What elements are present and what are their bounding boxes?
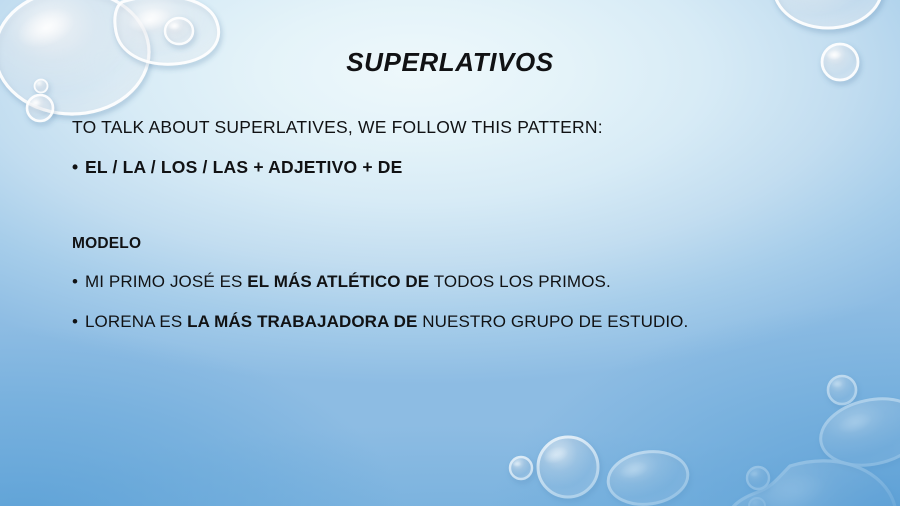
example-1-lead: MI PRIMO JOSÉ ES: [85, 272, 247, 291]
intro-line: TO TALK ABOUT SUPERLATIVES, WE FOLLOW TH…: [72, 117, 603, 138]
example-line-2: LORENA ES LA MÁS TRABAJADORA DE NUESTRO …: [72, 312, 688, 332]
modelo-heading: MODELO: [72, 235, 141, 253]
example-line-1: MI PRIMO JOSÉ ES EL MÁS ATLÉTICO DE TODO…: [72, 272, 611, 292]
page-title: SUPERLATIVOS: [0, 47, 900, 78]
slide-content: SUPERLATIVOS TO TALK ABOUT SUPERLATIVES,…: [0, 0, 900, 506]
bullet-icon: [72, 272, 85, 292]
example-2-tail: NUESTRO GRUPO DE ESTUDIO.: [417, 312, 688, 331]
example-1-tail: TODOS LOS PRIMOS.: [429, 272, 611, 291]
rule-bullet-line: EL / LA / LOS / LAS + ADJETIVO + DE: [72, 157, 403, 178]
slide: SUPERLATIVOS TO TALK ABOUT SUPERLATIVES,…: [0, 0, 900, 506]
example-1-strong: EL MÁS ATLÉTICO DE: [247, 272, 429, 291]
bullet-icon: [72, 157, 85, 178]
example-2-lead: LORENA ES: [85, 312, 187, 331]
example-2-strong: LA MÁS TRABAJADORA DE: [187, 312, 417, 331]
bullet-icon: [72, 312, 85, 332]
rule-bullet-text: EL / LA / LOS / LAS + ADJETIVO + DE: [85, 157, 403, 177]
